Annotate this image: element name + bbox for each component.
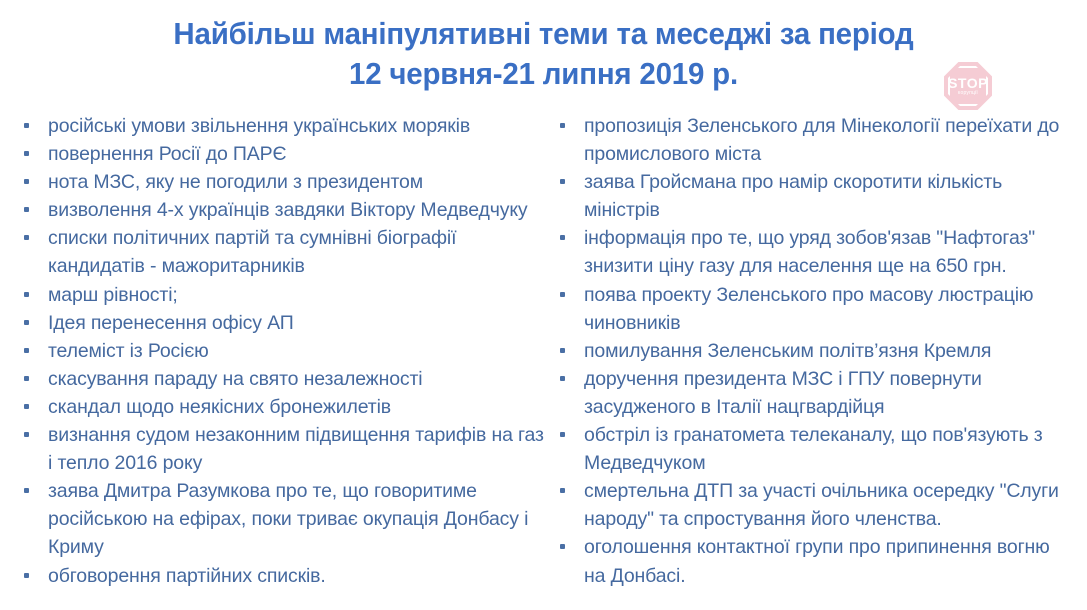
bullet-icon xyxy=(24,320,29,325)
list-item-label: марш рівності; xyxy=(48,281,544,309)
page-title: Найбільш маніпулятивні теми та меседжі з… xyxy=(0,14,1087,94)
list-item: скасування параду на свято незалежності xyxy=(18,365,544,393)
bullet-icon xyxy=(560,179,565,184)
list-item: інформація про те, що уряд зобов'язав "Н… xyxy=(554,224,1073,280)
list-item: визволення 4-х українців завдяки Віктору… xyxy=(18,196,544,224)
left-bullet-list: російські умови звільнення українських м… xyxy=(18,112,544,590)
list-item-label: російські умови звільнення українських м… xyxy=(48,112,544,140)
list-item-label: нота МЗС, яку не погодили з президентом xyxy=(48,168,544,196)
bullet-icon xyxy=(24,348,29,353)
list-item: повернення Росії до ПАРЄ xyxy=(18,140,544,168)
bullet-icon xyxy=(560,432,565,437)
list-item: скандал щодо неякісних бронежилетів xyxy=(18,393,544,421)
bullet-icon xyxy=(560,544,565,549)
bullet-icon xyxy=(560,235,565,240)
bullet-icon xyxy=(24,376,29,381)
list-item: помилування Зеленським політв’язня Кремл… xyxy=(554,337,1073,365)
list-item-label: заява Гройсмана про намір скоротити кіль… xyxy=(584,168,1073,224)
list-item: обговорення партійних списків. xyxy=(18,562,544,590)
content-columns: російські умови звільнення українських м… xyxy=(0,112,1087,590)
right-bullet-list: пропозиція Зеленського для Мінекології п… xyxy=(554,112,1073,590)
bullet-icon xyxy=(560,376,565,381)
list-item-label: скасування параду на свято незалежності xyxy=(48,365,544,393)
bullet-icon xyxy=(560,348,565,353)
bullet-icon xyxy=(560,488,565,493)
list-item-label: обстріл із гранатомета телеканалу, що по… xyxy=(584,421,1073,477)
list-item: нота МЗС, яку не погодили з президентом xyxy=(18,168,544,196)
list-item: заява Гройсмана про намір скоротити кіль… xyxy=(554,168,1073,224)
list-item-label: визволення 4-х українців завдяки Віктору… xyxy=(48,196,544,224)
list-item-label: скандал щодо неякісних бронежилетів xyxy=(48,393,544,421)
list-item-label: визнання судом незаконним підвищення тар… xyxy=(48,421,544,477)
list-item-label: доручення президента МЗС і ГПУ повернути… xyxy=(584,365,1073,421)
bullet-icon xyxy=(24,432,29,437)
list-item: Ідея перенесення офісу АП xyxy=(18,309,544,337)
list-item-label: поява проекту Зеленського про масову люс… xyxy=(584,281,1073,337)
right-column: пропозиція Зеленського для Мінекології п… xyxy=(548,112,1087,590)
list-item: визнання судом незаконним підвищення тар… xyxy=(18,421,544,477)
bullet-icon xyxy=(24,573,29,578)
bullet-icon xyxy=(24,404,29,409)
list-item: поява проекту Зеленського про масову люс… xyxy=(554,281,1073,337)
list-item-label: заява Дмитра Разумкова про те, що говори… xyxy=(48,477,544,561)
list-item: смертельна ДТП за участі очільника осере… xyxy=(554,477,1073,533)
title-line-2: 12 червня-21 липня 2019 р. xyxy=(27,54,1060,94)
list-item-label: списки політичних партій та сумнівні біо… xyxy=(48,224,544,280)
bullet-icon xyxy=(560,292,565,297)
bullet-icon xyxy=(24,235,29,240)
list-item-label: оголошення контактної групи про припинен… xyxy=(584,533,1073,589)
list-item: пропозиція Зеленського для Мінекології п… xyxy=(554,112,1073,168)
bullet-icon xyxy=(560,123,565,128)
list-item: марш рівності; xyxy=(18,281,544,309)
bullet-icon xyxy=(24,292,29,297)
bullet-icon xyxy=(24,151,29,156)
list-item-label: Ідея перенесення офісу АП xyxy=(48,309,544,337)
list-item-label: обговорення партійних списків. xyxy=(48,562,544,590)
page-header: Найбільш маніпулятивні теми та меседжі з… xyxy=(0,0,1087,110)
bullet-icon xyxy=(24,488,29,493)
list-item-label: смертельна ДТП за участі очільника осере… xyxy=(584,477,1073,533)
list-item: заява Дмитра Разумкова про те, що говори… xyxy=(18,477,544,561)
title-line-1: Найбільш маніпулятивні теми та меседжі з… xyxy=(27,14,1060,54)
list-item: російські умови звільнення українських м… xyxy=(18,112,544,140)
list-item: обстріл із гранатомета телеканалу, що по… xyxy=(554,421,1073,477)
bullet-icon xyxy=(24,179,29,184)
list-item-label: телеміст із Росією xyxy=(48,337,544,365)
bullet-icon xyxy=(24,123,29,128)
list-item: оголошення контактної групи про припинен… xyxy=(554,533,1073,589)
list-item-label: помилування Зеленським політв’язня Кремл… xyxy=(584,337,1073,365)
list-item-label: повернення Росії до ПАРЄ xyxy=(48,140,544,168)
list-item-label: пропозиція Зеленського для Мінекології п… xyxy=(584,112,1073,168)
list-item: списки політичних партій та сумнівні біо… xyxy=(18,224,544,280)
list-item-label: інформація про те, що уряд зобов'язав "Н… xyxy=(584,224,1073,280)
left-column: російські умови звільнення українських м… xyxy=(0,112,548,590)
bullet-icon xyxy=(24,207,29,212)
list-item: доручення президента МЗС і ГПУ повернути… xyxy=(554,365,1073,421)
list-item: телеміст із Росією xyxy=(18,337,544,365)
